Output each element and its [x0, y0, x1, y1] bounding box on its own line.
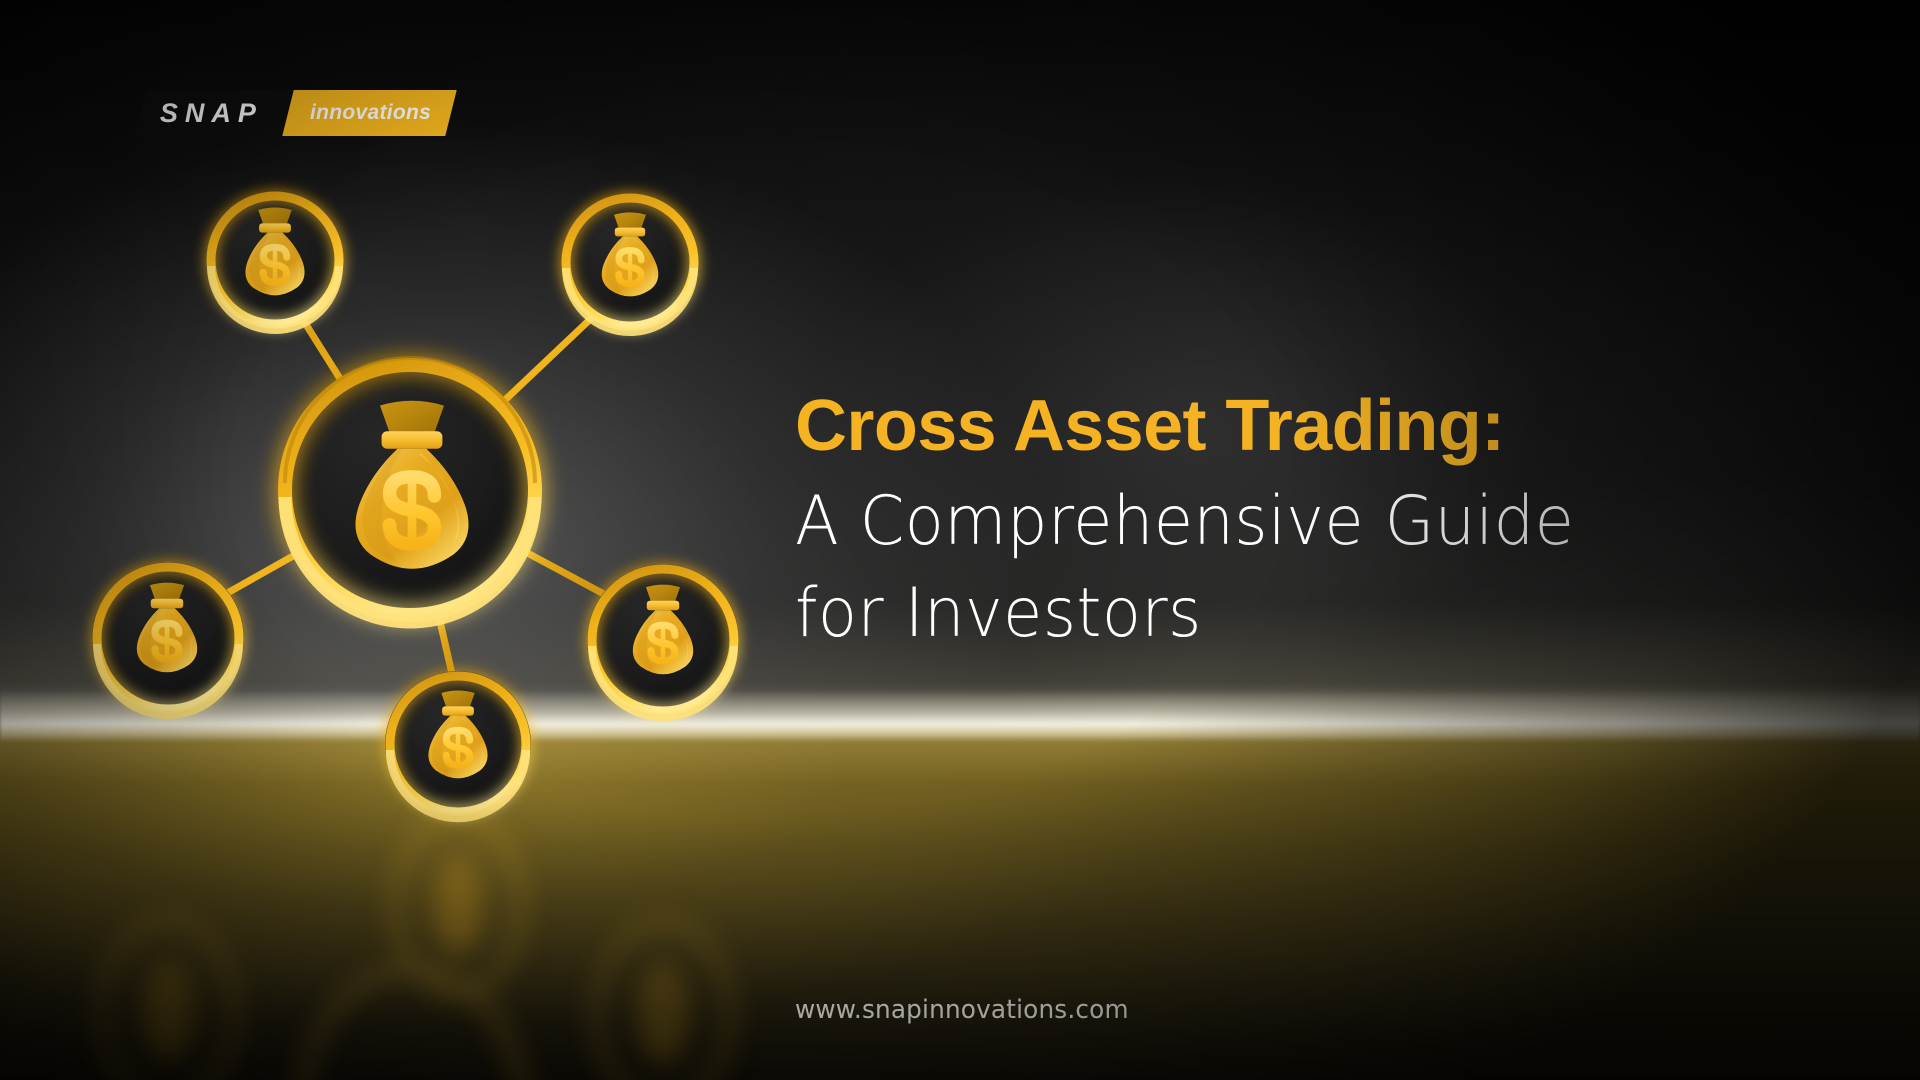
website-url[interactable]: www.snapinnovations.com: [795, 995, 1129, 1025]
logo-innovations-text: innovations: [310, 101, 431, 125]
headline-block: Cross Asset Trading: A Comprehensive Gui…: [795, 390, 1825, 672]
poster-canvas: SNAP innovations Cross Asset Trading: A …: [0, 0, 1920, 1080]
headline-line-3: for Investors: [795, 580, 1763, 648]
brand-logo[interactable]: SNAP innovations: [140, 90, 451, 136]
logo-snap-text: SNAP: [160, 98, 263, 129]
money-bag-node-top-left[interactable]: [207, 192, 343, 330]
reflection-right-node: [597, 922, 729, 1080]
graphic-reflections: [102, 817, 729, 1080]
money-bag-node-left[interactable]: [92, 562, 244, 715]
headline-line-2: A Comprehensive Guide: [795, 488, 1763, 556]
logo-innovations-block: innovations: [282, 90, 457, 136]
reflection-left-node: [102, 920, 234, 1080]
money-bag-node-bottom[interactable]: [385, 671, 531, 818]
money-bag-node-top-right[interactable]: [562, 194, 698, 332]
logo-snap-block: SNAP: [134, 90, 294, 136]
headline-line-1: Cross Asset Trading:: [795, 390, 1825, 462]
money-bag-node-center[interactable]: [278, 358, 542, 622]
money-bag-node-right[interactable]: [587, 564, 739, 717]
